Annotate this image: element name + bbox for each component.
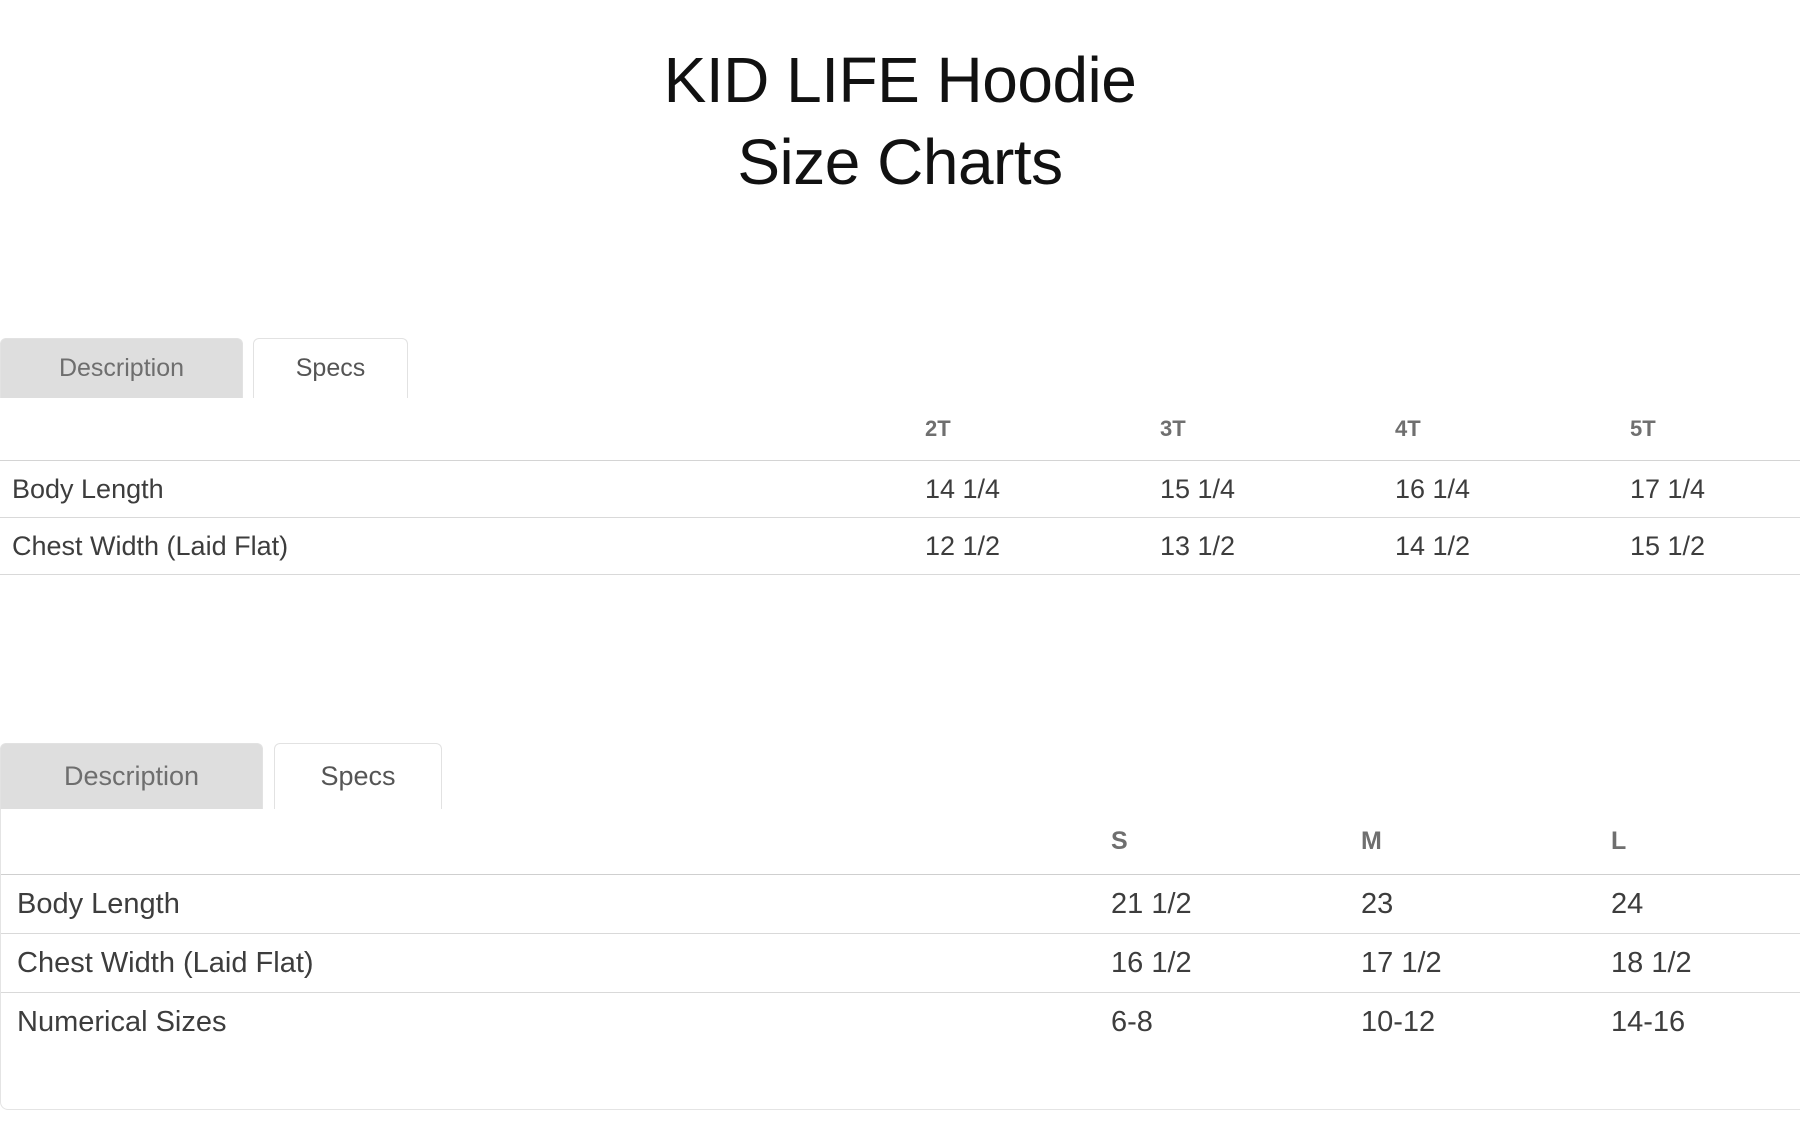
cell-body-length-m: 23 (1361, 875, 1611, 934)
size-chart-section-youth: Description Specs S M L Body Length 21 1… (0, 743, 1800, 1110)
size-chart-section-toddler: Description Specs 2T 3T 4T 5T Body Lengt… (0, 338, 1800, 637)
cell-body-length-l: 24 (1611, 875, 1800, 934)
column-header-corner (1, 808, 1111, 875)
table-head-youth: S M L (1, 808, 1800, 875)
cell-chest-width-l: 18 1/2 (1611, 934, 1800, 993)
table-row: Numerical Sizes 6-8 10-12 14-16 (1, 993, 1800, 1052)
table-row: Body Length 21 1/2 23 24 (1, 875, 1800, 934)
cell-body-length-3t: 15 1/4 (1160, 461, 1395, 518)
row-label-chest-width: Chest Width (Laid Flat) (1, 934, 1111, 993)
table-row: Chest Width (Laid Flat) 16 1/2 17 1/2 18… (1, 934, 1800, 993)
column-header-2t: 2T (925, 398, 1160, 461)
cell-chest-width-m: 17 1/2 (1361, 934, 1611, 993)
tab-description-youth[interactable]: Description (0, 743, 263, 809)
table-body-youth: Body Length 21 1/2 23 24 Chest Width (La… (1, 875, 1800, 1052)
table-header-row: S M L (1, 808, 1800, 875)
column-header-5t: 5T (1630, 398, 1800, 461)
cell-numerical-sizes-l: 14-16 (1611, 993, 1800, 1052)
cell-body-length-4t: 16 1/4 (1395, 461, 1630, 518)
row-label-body-length: Body Length (0, 461, 925, 518)
cell-chest-width-s: 16 1/2 (1111, 934, 1361, 993)
row-label-chest-width: Chest Width (Laid Flat) (0, 518, 925, 575)
tab-specs-youth[interactable]: Specs (274, 743, 442, 809)
tabstrip-youth: Description Specs (0, 743, 1800, 809)
page-title-line-1: KID LIFE Hoodie (0, 40, 1800, 122)
row-label-numerical-sizes: Numerical Sizes (1, 993, 1111, 1052)
table-panel-toddler: 2T 3T 4T 5T Body Length 14 1/4 15 1/4 16… (0, 397, 1800, 637)
cell-chest-width-4t: 14 1/2 (1395, 518, 1630, 575)
spec-table-toddler: 2T 3T 4T 5T Body Length 14 1/4 15 1/4 16… (0, 398, 1800, 637)
table-body-toddler: Body Length 14 1/4 15 1/4 16 1/4 17 1/4 … (0, 461, 1800, 638)
page-title-line-2: Size Charts (0, 122, 1800, 204)
page-title: KID LIFE Hoodie Size Charts (0, 0, 1800, 204)
table-bottom-padding-youth (1, 1051, 1800, 1109)
column-header-3t: 3T (1160, 398, 1395, 461)
column-header-corner (0, 398, 925, 461)
cell-chest-width-5t: 15 1/2 (1630, 518, 1800, 575)
spec-table-youth: S M L Body Length 21 1/2 23 24 Chest Wid… (1, 808, 1800, 1051)
cell-chest-width-3t: 13 1/2 (1160, 518, 1395, 575)
column-header-m: M (1361, 808, 1611, 875)
cell-chest-width-2t: 12 1/2 (925, 518, 1160, 575)
cell-numerical-sizes-m: 10-12 (1361, 993, 1611, 1052)
tabstrip-toddler: Description Specs (0, 338, 1800, 398)
tab-description-toddler[interactable]: Description (0, 338, 243, 398)
cell-body-length-s: 21 1/2 (1111, 875, 1361, 934)
column-header-l: L (1611, 808, 1800, 875)
row-label-body-length: Body Length (1, 875, 1111, 934)
table-footer-spacer (0, 575, 1800, 638)
table-header-row: 2T 3T 4T 5T (0, 398, 1800, 461)
table-row: Body Length 14 1/4 15 1/4 16 1/4 17 1/4 (0, 461, 1800, 518)
table-row: Chest Width (Laid Flat) 12 1/2 13 1/2 14… (0, 518, 1800, 575)
table-head-toddler: 2T 3T 4T 5T (0, 398, 1800, 461)
column-header-4t: 4T (1395, 398, 1630, 461)
table-panel-youth: S M L Body Length 21 1/2 23 24 Chest Wid… (0, 808, 1800, 1110)
cell-numerical-sizes-s: 6-8 (1111, 993, 1361, 1052)
cell-body-length-5t: 17 1/4 (1630, 461, 1800, 518)
tab-specs-toddler[interactable]: Specs (253, 338, 408, 398)
cell-body-length-2t: 14 1/4 (925, 461, 1160, 518)
column-header-s: S (1111, 808, 1361, 875)
